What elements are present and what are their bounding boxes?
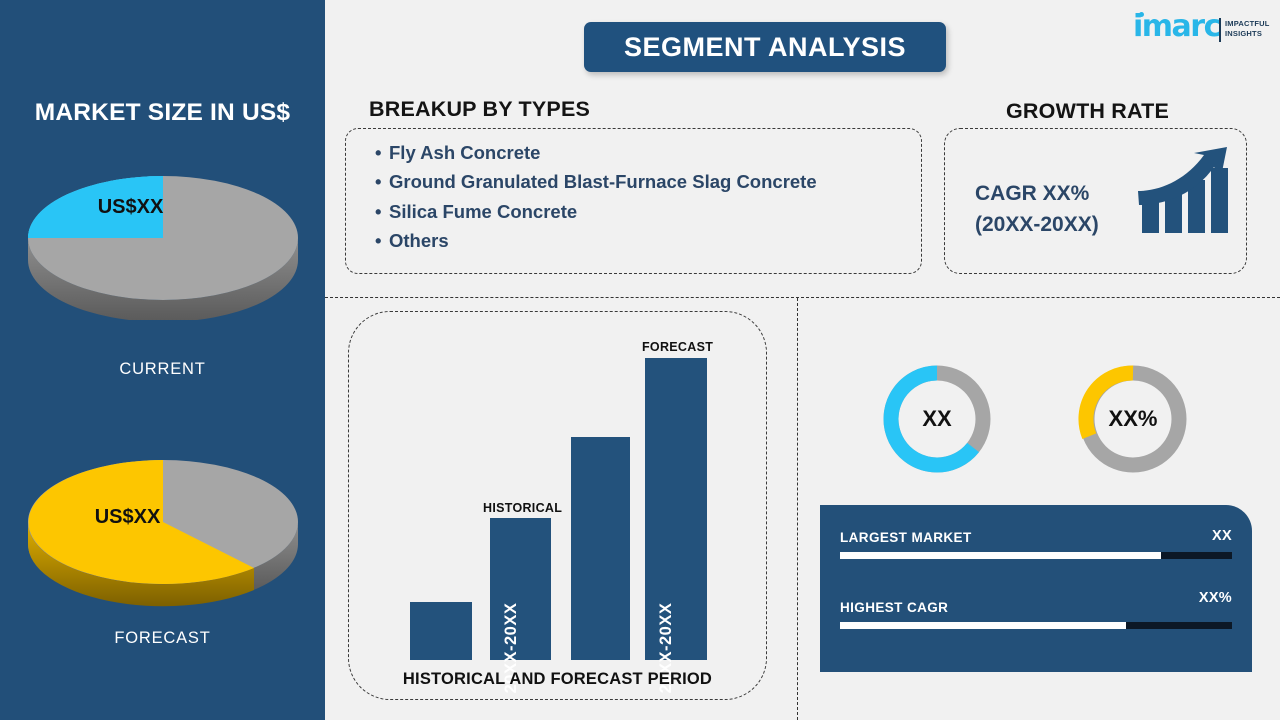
types-list: Fly Ash Concrete Ground Granulated Blast… — [375, 138, 915, 255]
growth-period-line: (20XX-20XX) — [975, 209, 1099, 240]
sidebar-title: MARKET SIZE IN US$ — [0, 99, 325, 127]
highest-cagr-donut: XX% — [1076, 362, 1190, 476]
kpi-track-largest-market — [840, 552, 1232, 559]
kpi-fill-largest-market — [840, 552, 1161, 559]
list-item: Others — [375, 226, 915, 255]
bar-2: 20XX-20XX — [490, 518, 551, 660]
vertical-divider — [797, 298, 798, 720]
sidebar: MARKET SIZE IN US$ CURRENT US$XX — [0, 0, 325, 720]
forecast-annotation: FORECAST — [642, 340, 713, 354]
kpi-label-largest-market: LARGEST MARKET — [840, 530, 972, 545]
logo-tagline: IMPACTFUL INSIGHTS — [1225, 19, 1270, 39]
growth-arrow-bars-icon — [1138, 147, 1230, 244]
infographic-root: MARKET SIZE IN US$ CURRENT US$XX — [0, 0, 1280, 720]
logo-tagline-line2: INSIGHTS — [1225, 29, 1270, 39]
logo-dot-icon — [1139, 12, 1144, 17]
bar-chart-caption: HISTORICAL AND FORECAST PERIOD — [348, 670, 767, 689]
page-title: SEGMENT ANALYSIS — [624, 32, 906, 63]
largest-market-donut: XX — [880, 362, 994, 476]
highest-cagr-donut-label: XX% — [1076, 362, 1190, 476]
current-pie-value: US$XX — [98, 196, 164, 219]
horizontal-divider — [325, 297, 1280, 298]
bar-1 — [410, 602, 472, 660]
bar-chart: 20XX-20XX HISTORICAL 20XX-20XX FORECAST … — [348, 311, 767, 700]
types-heading: BREAKUP BY TYPES — [369, 97, 590, 122]
kpi-track-highest-cagr — [840, 622, 1232, 629]
list-item: Silica Fume Concrete — [375, 197, 915, 226]
growth-cagr-line: CAGR XX% — [975, 178, 1099, 209]
growth-text: CAGR XX% (20XX-20XX) — [975, 178, 1099, 240]
bar-3 — [571, 437, 630, 660]
largest-market-donut-label: XX — [880, 362, 994, 476]
list-item: Ground Granulated Blast-Furnace Slag Con… — [375, 167, 915, 196]
logo-tagline-line1: IMPACTFUL — [1225, 19, 1270, 29]
historical-annotation: HISTORICAL — [483, 501, 562, 515]
current-pie-chart — [0, 160, 325, 320]
list-item: Fly Ash Concrete — [375, 138, 915, 167]
kpi-fill-highest-cagr — [840, 622, 1126, 629]
page-title-banner: SEGMENT ANALYSIS — [584, 22, 946, 72]
forecast-pie-label: FORECAST — [0, 629, 325, 648]
kpi-panel: LARGEST MARKET XX HIGHEST CAGR XX% — [820, 505, 1252, 672]
logo-divider — [1219, 18, 1221, 42]
growth-heading: GROWTH RATE — [1006, 99, 1169, 124]
kpi-value-largest-market: XX — [1212, 528, 1232, 544]
kpi-label-highest-cagr: HIGHEST CAGR — [840, 600, 948, 615]
current-pie-label: CURRENT — [0, 360, 325, 379]
imarc-logo: imarc IMPACTFUL INSIGHTS — [1133, 12, 1265, 50]
bar-4: 20XX-20XX — [645, 358, 707, 660]
kpi-value-highest-cagr: XX% — [1199, 590, 1232, 606]
forecast-pie-value: US$XX — [95, 506, 161, 529]
